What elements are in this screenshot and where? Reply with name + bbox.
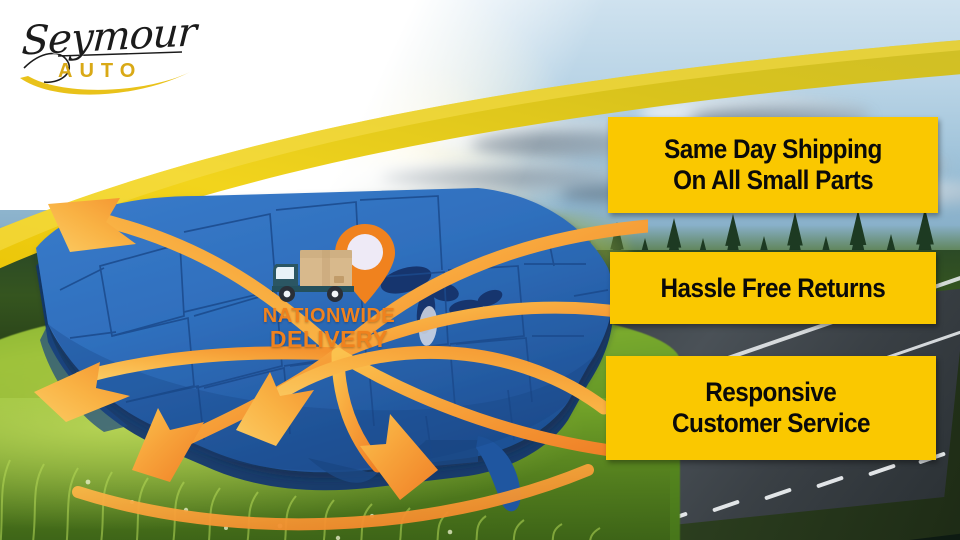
nationwide-line-2: DELIVERY — [254, 327, 404, 351]
feature-box-hassle-free-returns: Hassle Free Returns — [610, 252, 936, 324]
feature-box-responsive-customer-service: ResponsiveCustomer Service — [606, 356, 936, 460]
nationwide-line-1: NATIONWIDE — [254, 306, 404, 327]
feature-box-same-day-shipping: Same Day ShippingOn All Small Parts — [608, 117, 938, 213]
logo-subtitle: AUTO — [58, 60, 142, 83]
nationwide-delivery-label: NATIONWIDE DELIVERY — [254, 306, 404, 352]
feature-same-day-shipping-line-2: On All Small Parts — [673, 165, 873, 196]
feature-responsive-customer-service-line-2: Customer Service — [672, 408, 870, 439]
promo-banner: NATIONWIDE DELIVERY Seymour AUTO Same Da… — [0, 0, 960, 540]
brand-logo[interactable]: Seymour AUTO — [14, 8, 204, 100]
feature-responsive-customer-service-line-1: Responsive — [705, 377, 836, 408]
delivery-truck-icon — [272, 248, 364, 304]
logo-wordmark: Seymour — [20, 9, 197, 64]
feature-hassle-free-returns-line-1: Hassle Free Returns — [661, 273, 886, 304]
feature-same-day-shipping-line-1: Same Day Shipping — [664, 134, 882, 165]
